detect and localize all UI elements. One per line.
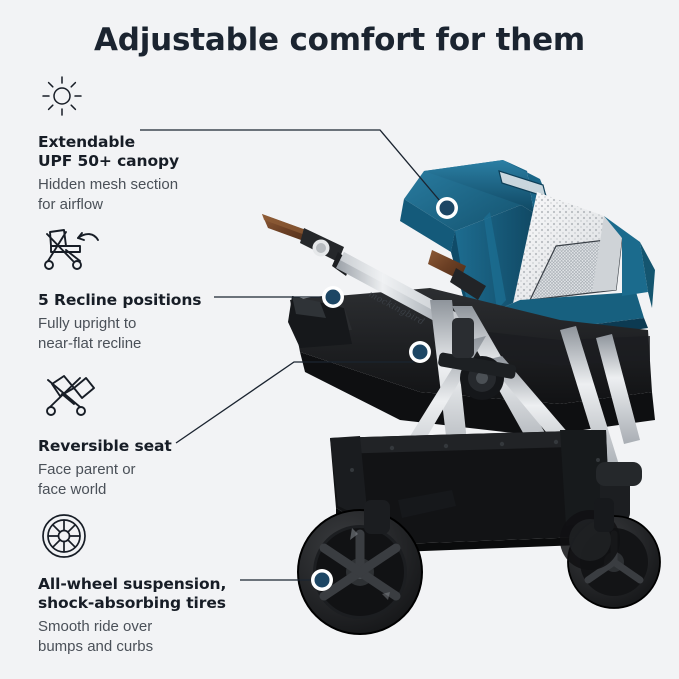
callout-dot-recline [322, 286, 344, 308]
feature-recline: 5 Recline positions Fully upright to nea… [38, 228, 278, 353]
frame [374, 300, 640, 500]
feature-suspension: All-wheel suspension, shock-absorbing ti… [38, 512, 278, 656]
feature-title: Reversible seat [38, 437, 278, 456]
feature-title: Extendable UPF 50+ canopy [38, 133, 278, 171]
canopy-mesh-panel [512, 192, 622, 308]
feature-subtitle: Smooth ride over bumps and curbs [38, 617, 278, 656]
callout-dot-reversible [409, 341, 431, 363]
callout-dot-suspension [311, 569, 333, 591]
rear-wheel [298, 510, 422, 634]
stroller-reversible-icon [40, 374, 278, 427]
infographic-canvas: mockingbird [0, 0, 679, 679]
seat-front-panel [288, 296, 352, 348]
feature-title: 5 Recline positions [38, 291, 278, 310]
handlebar: mockingbird [262, 214, 486, 336]
feature-reversible: Reversible seat Face parent or face worl… [38, 374, 278, 499]
sun-icon [40, 74, 278, 123]
feature-subtitle: Face parent or face world [38, 460, 278, 499]
stroller-recline-icon [40, 228, 278, 281]
feature-title: All-wheel suspension, shock-absorbing ti… [38, 575, 278, 613]
svg-text:mockingbird: mockingbird [367, 290, 426, 328]
feature-subtitle: Hidden mesh section for airflow [38, 175, 278, 214]
callout-dot-canopy [436, 197, 458, 219]
feature-subtitle: Fully upright to near-flat recline [38, 314, 278, 353]
page-title: Adjustable comfort for them [0, 22, 679, 58]
canopy-group [400, 160, 556, 322]
feature-canopy: Extendable UPF 50+ canopy Hidden mesh se… [38, 74, 278, 214]
seat-body [290, 288, 655, 436]
storage-basket [330, 430, 610, 552]
front-wheel [560, 462, 660, 608]
wheel-icon [40, 512, 278, 565]
